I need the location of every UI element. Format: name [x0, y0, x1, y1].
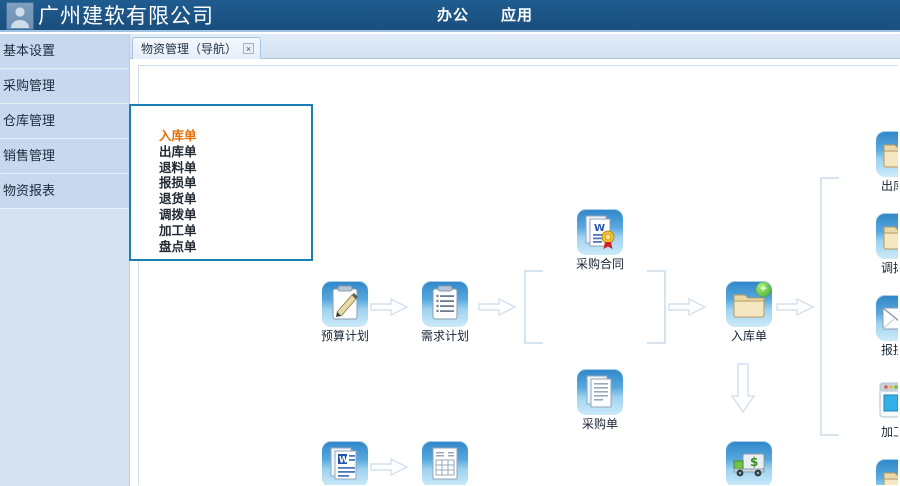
menu-item-damage-report[interactable]: 报损单: [159, 175, 311, 191]
top-header-bar: 广州建软有限公司 办公 应用: [0, 0, 900, 32]
menu-item-process-order[interactable]: 加工单: [159, 223, 311, 239]
envelope-warning-icon: !: [876, 295, 898, 341]
node-return-order[interactable]: $ 退货单: [711, 441, 787, 485]
node-label: 预算计划: [307, 329, 383, 344]
node-budget-plan[interactable]: 预算计划: [307, 281, 383, 344]
sidebar-item-sales-management[interactable]: 销售管理: [0, 139, 129, 174]
node-label: 出库单: [861, 179, 898, 194]
warehouse-submenu-list: 入库单 出库单 退料单 报损单 退货单 调拨单 加工单 盘点单: [131, 106, 311, 254]
node-transfer-order[interactable]: ⇄ 调拨单: [861, 213, 898, 276]
node-label: 采购合同: [562, 257, 638, 272]
user-avatar-icon[interactable]: [6, 2, 34, 30]
tab-label: 物资管理（导航）: [141, 39, 237, 59]
folder-minus-icon: −: [876, 131, 898, 177]
node-purchase-order[interactable]: 采购单: [562, 369, 638, 432]
close-icon[interactable]: ×: [243, 43, 254, 54]
node-damage-report[interactable]: ! 报损单: [861, 295, 898, 358]
node-sales-order[interactable]: 销售单: [407, 441, 483, 485]
menu-item-material-return[interactable]: 退料单: [159, 160, 311, 176]
plus-badge: +: [756, 282, 771, 297]
node-process-order[interactable]: 加工单: [861, 377, 898, 440]
top-menu-apps[interactable]: 应用: [501, 4, 533, 28]
folder-plus-icon: +: [726, 281, 772, 327]
svg-text:W: W: [594, 223, 605, 234]
sidebar-empty-area: [0, 214, 129, 486]
menu-item-inbound-order[interactable]: 入库单: [159, 128, 311, 144]
sidebar-item-warehouse-management[interactable]: 仓库管理: [0, 104, 129, 139]
node-label: 调拨单: [861, 261, 898, 276]
window-panel-icon: [876, 377, 898, 423]
node-outbound-order[interactable]: − 出库单: [861, 131, 898, 194]
node-demand-plan[interactable]: 需求计划: [407, 281, 483, 344]
sidebar-item-purchase-management[interactable]: 采购管理: [0, 69, 129, 104]
truck-money-icon: $: [726, 441, 772, 485]
node-stocktake-order[interactable]: ✓ 盘点单: [861, 459, 898, 485]
tab-material-management-nav[interactable]: 物资管理（导航） ×: [132, 37, 261, 59]
folder-check-icon: ✓: [876, 459, 898, 485]
tab-strip: 物资管理（导航） ×: [130, 34, 900, 59]
menu-item-stocktake-order[interactable]: 盘点单: [159, 239, 311, 255]
word-document-seal-icon: W: [577, 209, 623, 255]
menu-item-transfer-order[interactable]: 调拨单: [159, 207, 311, 223]
document-pages-icon: [577, 369, 623, 415]
word-document-icon: W: [322, 441, 368, 485]
node-label: 加工单: [861, 425, 898, 440]
menu-item-outbound-order[interactable]: 出库单: [159, 144, 311, 160]
sidebar-item-basic-settings[interactable]: 基本设置: [0, 34, 129, 69]
application-window: 广州建软有限公司 办公 应用 基本设置 采购管理 仓库管理 销售管理 物资报表 …: [0, 0, 900, 486]
node-label: 采购单: [562, 417, 638, 432]
menu-item-return-order[interactable]: 退货单: [159, 191, 311, 207]
node-purchase-contract[interactable]: W 采购合同: [562, 209, 638, 272]
left-sidebar: 基本设置 采购管理 仓库管理 销售管理 物资报表: [0, 34, 130, 486]
node-sales-contract[interactable]: W 销售合同: [307, 441, 383, 485]
node-label: 需求计划: [407, 329, 483, 344]
node-inbound-order[interactable]: + 入库单: [711, 281, 787, 344]
invoice-icon: [422, 441, 468, 485]
company-name: 广州建软有限公司: [38, 1, 214, 31]
sidebar-item-material-reports[interactable]: 物资报表: [0, 174, 129, 209]
svg-text:$: $: [750, 455, 758, 469]
top-menu-office[interactable]: 办公: [437, 4, 469, 28]
folder-transfer-icon: ⇄: [876, 213, 898, 259]
svg-text:W: W: [339, 456, 349, 466]
clipboard-list-icon: [422, 281, 468, 327]
node-label: 报损单: [861, 343, 898, 358]
node-label: 入库单: [711, 329, 787, 344]
warehouse-submenu-popup: 入库单 出库单 退料单 报损单 退货单 调拨单 加工单 盘点单: [129, 104, 313, 261]
notepad-pencil-icon: [322, 281, 368, 327]
